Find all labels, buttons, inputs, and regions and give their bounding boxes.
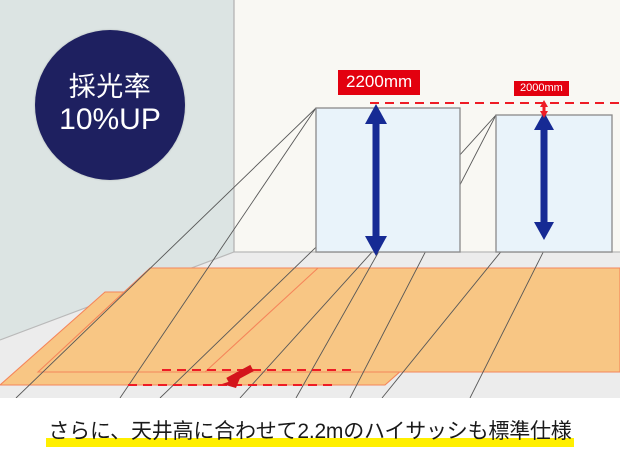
- highlight-badge: 採光率 10%UP: [35, 30, 185, 180]
- caption-text-block: さらに、天井高に合わせて2.2mのハイサッシも標準仕様: [46, 415, 573, 448]
- illustration-slide: 採光率 10%UP 2200mm 2000mm さらに、天井高に合わせて2.2m…: [0, 0, 620, 464]
- measurement-label-right: 2000mm: [514, 81, 569, 96]
- measurement-label-left: 2200mm: [338, 70, 420, 95]
- caption-label: さらに、天井高に合わせて2.2mのハイサッシも標準仕様: [48, 420, 571, 443]
- badge-line-2: 10%UP: [59, 103, 161, 138]
- caption-bar: さらに、天井高に合わせて2.2mのハイサッシも標準仕様: [0, 398, 620, 464]
- window-right-glass: [496, 115, 612, 252]
- badge-line-1: 採光率: [69, 72, 152, 103]
